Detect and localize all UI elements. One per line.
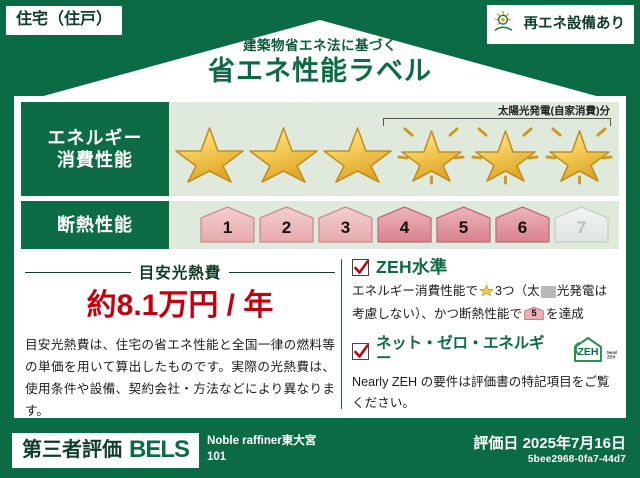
solar-star-icon xyxy=(395,119,468,185)
bels-jp-label: 第三者評価 xyxy=(22,440,122,460)
solar-star-icon xyxy=(469,119,542,185)
zeh-logo-icon: ZEH Nearly ZEH xyxy=(567,335,617,368)
label-body-card: エネルギー 消費性能 太陽光発電(自家消費)分 xyxy=(14,96,626,418)
details-section: 目安光熱費 約8.1万円 / 年 目安光熱費は、住宅の省エネ性能と全国一律の燃料… xyxy=(21,257,619,413)
insulation-level-4: 4 xyxy=(376,205,433,245)
energy-stars-area: 太陽光発電(自家消費)分 xyxy=(169,102,619,196)
zeh-standard-heading: ZEH水準 xyxy=(352,259,617,277)
net-zero-block: ネット・ゼロ・エネルギー ZEH Nearly ZEH Nearly ZEH の… xyxy=(352,335,617,415)
insulation-level-number: 1 xyxy=(199,219,256,236)
insulation-level-scale: 1 2 3 xyxy=(199,205,610,245)
zeh-desc-part-3: を達成 xyxy=(546,307,584,321)
label-title-group: 建築物省エネ法に基づく 省エネ性能ラベル xyxy=(0,38,640,89)
insulation-label-text: 断熱性能 xyxy=(57,214,133,237)
star-icon xyxy=(321,119,394,185)
utility-cost-column: 目安光熱費 約8.1万円 / 年 目安光熱費は、住宅の省エネ性能と全国一律の燃料… xyxy=(21,257,339,413)
insulation-level-6: 6 xyxy=(494,205,551,245)
insulation-performance-row: 断熱性能 xyxy=(21,201,619,249)
svg-text:ZEH: ZEH xyxy=(607,354,615,359)
evaluation-id: 5bee2968-0fa7-44d7 xyxy=(473,454,626,465)
bels-logo: 第三者評価 BELS xyxy=(12,433,199,468)
column-divider xyxy=(341,259,342,409)
insulation-level-number: 4 xyxy=(376,219,433,236)
inline-house-level: 5 xyxy=(524,309,544,319)
solar-sun-icon xyxy=(493,9,519,40)
heading-rule-left xyxy=(25,272,131,273)
zeh-standard-description: エネルギー消費性能で3つ（太光発電は考慮しない）、かつ断熱性能で5を達成 xyxy=(352,281,617,326)
star-icon xyxy=(173,119,246,185)
net-zero-title: ネット・ゼロ・エネルギー xyxy=(376,336,557,367)
star-icon xyxy=(247,119,320,185)
inline-redacted-mark xyxy=(541,286,556,300)
insulation-level-5: 5 xyxy=(435,205,492,245)
utility-cost-value: 約8.1万円 / 年 xyxy=(25,289,335,322)
utility-cost-note: 目安光熱費は、住宅の省エネ性能と全国一律の燃料等の単価を用いて算出したものです。… xyxy=(25,334,335,422)
property-info: Noble raffiner東大宮 101 xyxy=(207,434,316,465)
zeh-standard-checkbox[interactable] xyxy=(352,259,369,276)
energy-performance-label: エネルギー 消費性能 xyxy=(21,102,169,196)
utility-cost-heading-text: 目安光熱費 xyxy=(139,261,222,283)
insulation-level-number: 2 xyxy=(258,219,315,236)
insulation-level-number: 7 xyxy=(553,219,610,236)
renewable-energy-label: 再エネ設備あり xyxy=(524,17,626,32)
dwelling-type-badge: 住宅（住戸） xyxy=(6,6,122,35)
net-zero-checkbox[interactable] xyxy=(352,343,369,360)
footer-band: 第三者評価 BELS Noble raffiner東大宮 101 評価日 202… xyxy=(0,422,640,478)
energy-performance-row: エネルギー 消費性能 太陽光発電(自家消費)分 xyxy=(21,102,619,196)
check-icon xyxy=(354,344,369,360)
insulation-level-1: 1 xyxy=(199,205,256,245)
property-name: Noble raffiner東大宮 xyxy=(207,434,316,450)
inline-house-icon: 5 xyxy=(524,306,544,321)
bels-en-label: BELS xyxy=(129,438,189,462)
insulation-level-number: 3 xyxy=(317,219,374,236)
solar-star-icon xyxy=(543,119,616,185)
renewable-energy-badge: 再エネ設備あり xyxy=(487,5,635,44)
net-zero-heading: ネット・ゼロ・エネルギー ZEH Nearly ZEH xyxy=(352,335,617,368)
inline-star-icon xyxy=(479,286,494,300)
heading-rule-right xyxy=(229,272,335,273)
zeh-standard-block: ZEH水準 エネルギー消費性能で3つ（太光発電は考慮しない）、かつ断熱性能で5を… xyxy=(352,259,617,326)
insulation-level-7: 7 xyxy=(553,205,610,245)
property-unit: 101 xyxy=(207,450,316,466)
energy-label-line-2: 消費性能 xyxy=(57,149,133,172)
net-zero-description: Nearly ZEH の要件は評価書の特記項目をご覧ください。 xyxy=(352,372,617,415)
solar-bracket-label: 太陽光発電(自家消費)分 xyxy=(498,103,610,118)
label-title: 省エネ性能ラベル xyxy=(0,55,640,89)
check-icon xyxy=(354,260,369,276)
svg-text:ZEH: ZEH xyxy=(578,346,599,358)
insulation-performance-label: 断熱性能 xyxy=(21,201,169,249)
evaluation-date: 評価日 2025年7月16日 xyxy=(473,435,626,454)
insulation-level-number: 6 xyxy=(494,219,551,236)
utility-cost-heading: 目安光熱費 xyxy=(25,261,335,283)
dwelling-type-label: 住宅（住戸） xyxy=(16,11,112,28)
insulation-levels-area: 1 2 3 xyxy=(169,201,619,249)
insulation-level-number: 5 xyxy=(435,219,492,236)
zeh-standard-title: ZEH水準 xyxy=(376,259,448,277)
insulation-level-2: 2 xyxy=(258,205,315,245)
energy-label-line-1: エネルギー xyxy=(48,127,143,150)
zeh-desc-part-1: エネルギー消費性能で xyxy=(352,284,478,298)
evaluation-info: 評価日 2025年7月16日 5bee2968-0fa7-44d7 xyxy=(473,435,626,465)
energy-label-card: 住宅（住戸） 再エネ設備あり 建築物省エネ法に基づく 省エネ性能ラベル xyxy=(0,0,640,478)
zeh-column: ZEH水準 エネルギー消費性能で3つ（太光発電は考慮しない）、かつ断熱性能で5を… xyxy=(350,257,619,413)
zeh-desc-star-count: 3つ（太 xyxy=(495,284,540,298)
insulation-level-3: 3 xyxy=(317,205,374,245)
star-rating xyxy=(173,119,616,185)
